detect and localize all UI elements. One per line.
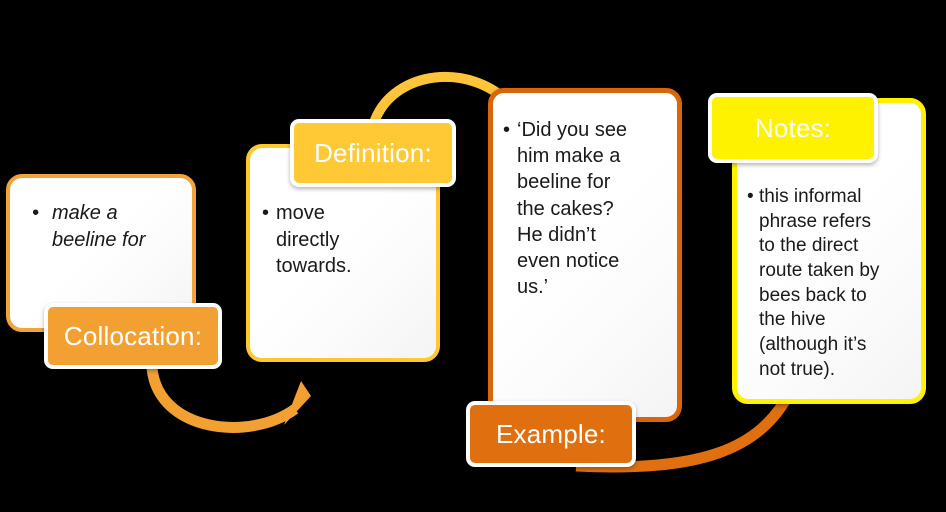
label-chip-example[interactable]: Example: [466, 401, 636, 467]
card-notes-line-6: the hive [759, 308, 913, 333]
card-notes-body: • this informal phrase refers to the dir… [737, 185, 921, 383]
card-definition-line-2: directly [276, 227, 424, 254]
card-example-line-1: ‘Did you see [517, 117, 667, 143]
card-notes-line-2: phrase refers [759, 210, 913, 235]
bullet-icon: • [32, 200, 39, 227]
bullet-icon: • [747, 185, 754, 210]
card-example-line-4: the cakes? [517, 196, 667, 222]
label-chip-notes[interactable]: Notes: [708, 93, 878, 163]
card-example-line-3: beeline for [517, 169, 667, 195]
card-notes-line-5: bees back to [759, 284, 913, 309]
card-notes-line-3: to the direct [759, 234, 913, 259]
card-example-line-7: us.’ [517, 274, 667, 300]
card-example-line-6: even notice [517, 248, 667, 274]
card-example-line-2: him make a [517, 143, 667, 169]
card-example-body: • ‘Did you see him make a beeline for th… [493, 117, 677, 300]
card-collocation-line-2: beeline for [52, 227, 178, 254]
card-definition-body: • move directly towards. [250, 200, 436, 280]
card-notes-line-7: (although it’s [759, 333, 913, 358]
card-notes-line-4: route taken by [759, 259, 913, 284]
card-example-line-5: He didn’t [517, 222, 667, 248]
label-chip-definition[interactable]: Definition: [290, 119, 456, 187]
card-example[interactable]: • ‘Did you see him make a beeline for th… [488, 88, 682, 422]
card-notes-line-1: this informal [759, 185, 913, 210]
card-definition-line-1: move [276, 200, 424, 227]
card-notes-line-8: not true). [759, 358, 913, 383]
bullet-icon: • [262, 200, 269, 227]
flashcard-diagram-canvas: • make a beeline for • move directly tow… [0, 0, 946, 512]
card-collocation-body: • make a beeline for [10, 200, 192, 254]
bullet-icon: • [503, 117, 510, 143]
card-definition-line-3: towards. [276, 253, 424, 280]
card-collocation-line-1: make a [52, 200, 178, 227]
arrow-collocation-to-definition [152, 368, 311, 427]
label-chip-collocation[interactable]: Collocation: [44, 303, 222, 369]
